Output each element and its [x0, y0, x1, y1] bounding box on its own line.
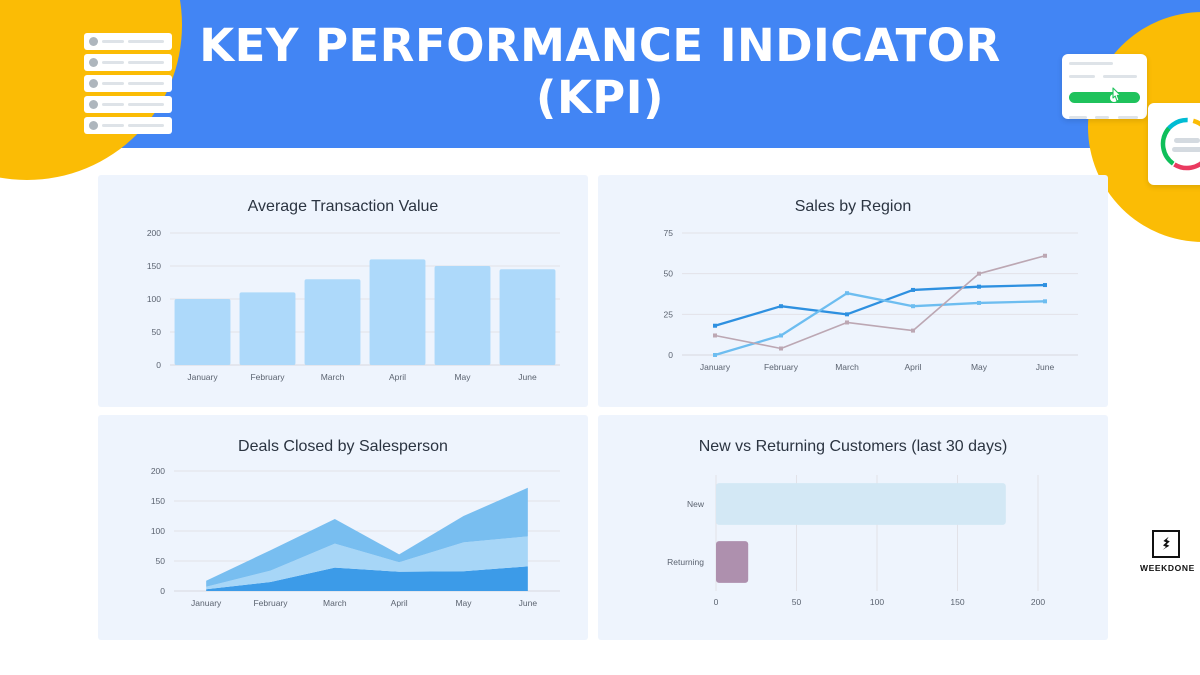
bar	[240, 292, 296, 365]
text-line	[1095, 116, 1109, 119]
data-point	[845, 320, 849, 324]
text-line	[128, 82, 164, 85]
text-line	[102, 124, 124, 127]
decorative-donut-card	[1148, 103, 1200, 185]
list-item	[84, 117, 172, 134]
x-axis-label: January	[700, 362, 731, 372]
svg-text:50: 50	[664, 269, 674, 279]
bar	[716, 541, 748, 583]
data-point	[977, 272, 981, 276]
line-chart-sales-by-region: 0255075 JanuaryFebruaryMarchAprilMayJune	[598, 223, 1108, 401]
data-point	[911, 304, 915, 308]
x-axis-label: March	[835, 362, 859, 372]
bar	[370, 259, 426, 365]
x-axis-label: February	[253, 598, 288, 608]
bar-chart-average-transaction-value: 050100150200 JanuaryFebruaryMarchAprilMa…	[98, 223, 588, 401]
donut-chart-icon	[1148, 103, 1200, 185]
list-item	[84, 96, 172, 113]
svg-text:50: 50	[156, 556, 166, 566]
lightning-bolt-icon	[1152, 530, 1180, 558]
chart-title: Average Transaction Value	[98, 175, 588, 216]
text-line	[102, 61, 124, 64]
svg-text:150: 150	[151, 496, 165, 506]
data-point	[713, 324, 717, 328]
chart-card-sales-by-region: Sales by Region 0255075 JanuaryFebruaryM…	[598, 175, 1108, 407]
text-line	[1069, 62, 1113, 65]
data-point	[911, 288, 915, 292]
svg-text:0: 0	[668, 350, 673, 360]
decorative-list-card-stack	[84, 33, 176, 135]
x-axis-label: 150	[950, 597, 964, 607]
x-axis-label: January	[191, 598, 222, 608]
data-point	[1043, 299, 1047, 303]
x-axis-label: 200	[1031, 597, 1045, 607]
list-item	[84, 33, 172, 50]
y-axis-label: New	[687, 499, 705, 509]
data-point	[845, 312, 849, 316]
y-axis-label: Returning	[667, 557, 704, 567]
page-title-line-1: KEY PERFORMANCE INDICATOR	[190, 20, 1010, 72]
text-line	[128, 124, 164, 127]
text-line	[1103, 75, 1137, 78]
avatar	[89, 121, 98, 130]
text-line	[128, 103, 164, 106]
svg-text:50: 50	[152, 327, 162, 337]
data-point	[779, 333, 783, 337]
x-axis-label: February	[764, 362, 799, 372]
bar	[716, 483, 1006, 525]
x-axis-label: June	[519, 598, 538, 608]
chart-title: Deals Closed by Salesperson	[98, 415, 588, 456]
x-axis-label: April	[389, 372, 406, 382]
x-axis-label: June	[1036, 362, 1055, 372]
svg-text:100: 100	[147, 294, 161, 304]
data-point	[779, 304, 783, 308]
text-line	[128, 61, 164, 64]
chart-title: Sales by Region	[598, 175, 1108, 216]
brand-name: WEEKDONE	[1140, 563, 1192, 573]
text-line	[1118, 116, 1138, 119]
x-axis-label: May	[971, 362, 988, 372]
chart-card-new-vs-returning: New vs Returning Customers (last 30 days…	[598, 415, 1108, 640]
avatar	[89, 79, 98, 88]
x-axis-label: 50	[792, 597, 802, 607]
x-axis-label: June	[518, 372, 537, 382]
data-point	[779, 346, 783, 350]
area-chart-deals-closed: 050100150200 JanuaryFebruaryMarchAprilMa…	[98, 463, 588, 635]
chart-title: New vs Returning Customers (last 30 days…	[598, 415, 1108, 456]
text-line	[102, 40, 124, 43]
bar	[175, 299, 231, 365]
text-line	[128, 40, 164, 43]
bolt-glyph	[1160, 536, 1173, 553]
line-series	[715, 285, 1045, 326]
horizontal-bar-chart-new-vs-returning: NewReturning 050100150200	[598, 463, 1108, 635]
text-line	[102, 103, 124, 106]
x-axis-label: January	[187, 372, 218, 382]
page-title: KEY PERFORMANCE INDICATOR (KPI)	[190, 20, 1010, 124]
data-point	[1043, 283, 1047, 287]
x-axis-label: May	[455, 598, 472, 608]
kpi-dashboard-slide: KEY PERFORMANCE INDICATOR (KPI)	[0, 0, 1200, 675]
bar	[500, 269, 556, 365]
data-point	[1043, 254, 1047, 258]
data-point	[977, 301, 981, 305]
svg-text:200: 200	[151, 466, 165, 476]
page-title-line-2: (KPI)	[190, 72, 1010, 124]
avatar	[89, 37, 98, 46]
svg-text:200: 200	[147, 228, 161, 238]
brand-logo: WEEKDONE	[1140, 530, 1192, 573]
bar	[305, 279, 361, 365]
text-line	[102, 82, 124, 85]
svg-text:75: 75	[664, 228, 674, 238]
svg-text:100: 100	[151, 526, 165, 536]
data-point	[845, 291, 849, 295]
x-axis-label: May	[454, 372, 471, 382]
data-point	[911, 329, 915, 333]
x-axis-label: 0	[714, 597, 719, 607]
svg-text:150: 150	[147, 261, 161, 271]
text-line	[1069, 75, 1095, 78]
data-point	[713, 353, 717, 357]
x-axis-label: March	[321, 372, 345, 382]
svg-text:0: 0	[160, 586, 165, 596]
svg-text:25: 25	[664, 309, 674, 319]
x-axis-label: February	[250, 372, 285, 382]
x-axis-label: March	[323, 598, 347, 608]
chart-card-average-transaction-value: Average Transaction Value 050100150200 J…	[98, 175, 588, 407]
x-axis-label: April	[904, 362, 921, 372]
x-axis-label: April	[391, 598, 408, 608]
avatar	[89, 58, 98, 67]
chart-card-deals-closed-by-salesperson: Deals Closed by Salesperson 050100150200…	[98, 415, 588, 640]
cursor-pointer-icon	[1110, 87, 1124, 104]
avatar	[89, 100, 98, 109]
bar	[435, 266, 491, 365]
toggle-switch[interactable]	[1069, 92, 1140, 103]
text-line	[1069, 116, 1087, 119]
list-item	[84, 54, 172, 71]
list-item	[84, 75, 172, 92]
data-point	[713, 333, 717, 337]
x-axis-label: 100	[870, 597, 884, 607]
decorative-toggle-card	[1062, 54, 1147, 119]
svg-text:0: 0	[156, 360, 161, 370]
data-point	[977, 285, 981, 289]
